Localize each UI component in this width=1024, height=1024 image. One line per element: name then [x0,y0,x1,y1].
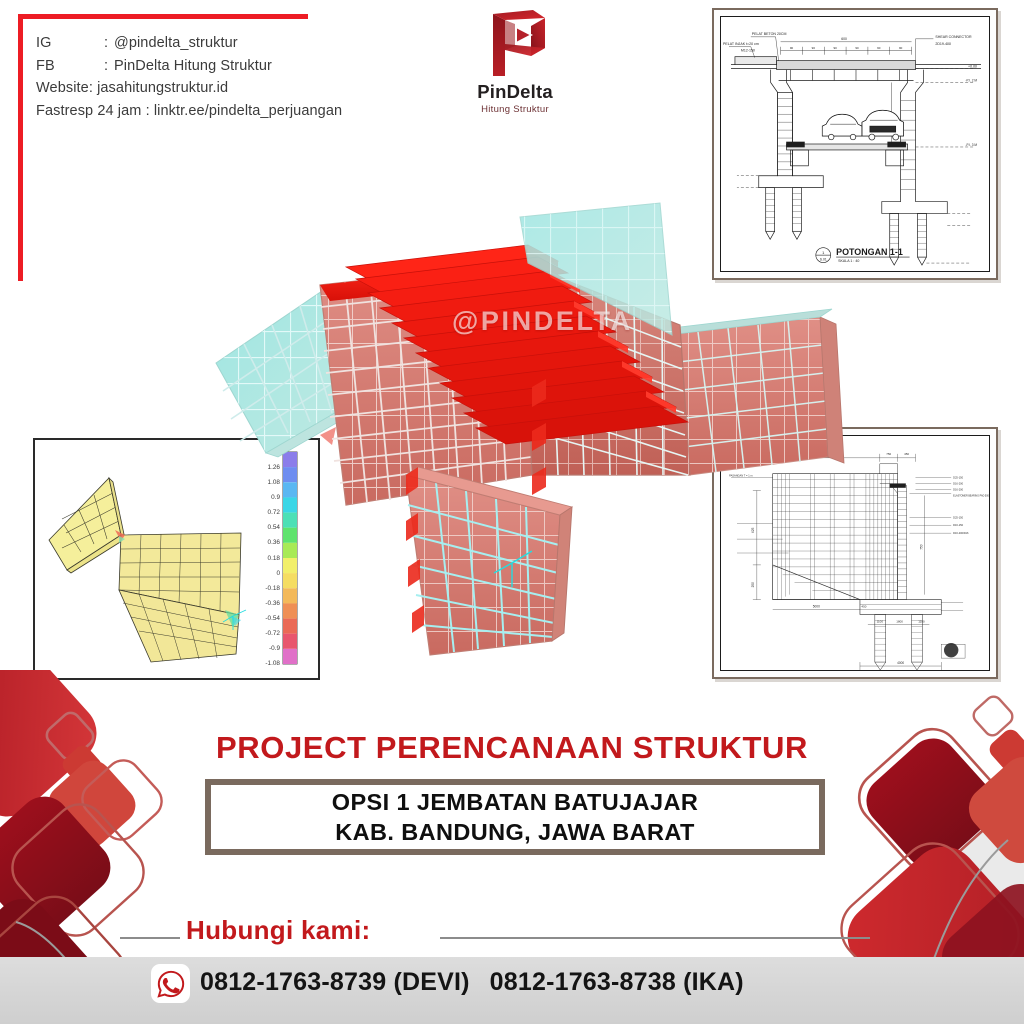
cad-label-pelat-beton: PELAT BETON 20CM [752,32,787,36]
contact-row-fb: FB : PinDelta Hitung Struktur [36,55,436,78]
rebar-note-2: D16-200 [953,482,963,486]
phone-number-2[interactable]: 0812-1763-8738 (IKA) [490,968,744,996]
right-wing-wall [668,309,844,475]
contact-key-fb: FB [36,55,104,78]
phone-numbers: 0812-1763-8739 (DEVI)0812-1763-8738 (IKA… [200,968,744,997]
cta-rule-left [120,937,180,939]
cad-elev-2: -P.I. 3 M [966,143,978,147]
cad-dim-top-4: 90 [855,46,859,50]
rebar-pile-total: 4000 [897,661,904,665]
bridge-3d-model-svg [160,175,880,675]
cad-label-pelat-injak: PELAT INJAK t=20 cm [723,42,759,46]
pindelta-p-delta-icon [471,6,559,80]
project-subtitle-box: OPSI 1 JEMBATAN BATUJAJAR KAB. BANDUNG, … [205,779,825,855]
rebar-note-7: D16-200/D16 [953,531,969,535]
whatsapp-glyph [156,969,186,999]
phone-number-1[interactable]: 0812-1763-8739 (DEVI) [200,968,470,996]
rebar-note-1: D25-150 [953,476,963,480]
cad-dim-top-3: 90 [834,46,838,50]
contact-row-ig: IG : @pindelta_struktur [36,32,436,55]
logo-wordmark: PinDelta [455,81,575,103]
rebar-note-4: ELASTOMER BEARING PAD 500x500x47 mm [953,494,989,497]
cta-label: Hubungi kami: [186,915,370,946]
cad-label-shear-connector: SHEAR CONNECTOR [935,35,972,39]
social-contact-block: IG : @pindelta_struktur FB : PinDelta Hi… [36,32,436,122]
cad-elev-1: -P.I. 2 M [966,78,978,82]
logo-tagline: Hitung Struktur [455,104,575,115]
project-subtitle-line2: KAB. BANDUNG, JAWA BARAT [335,817,694,847]
contact-value-fb: PinDelta Hitung Struktur [114,55,272,78]
cad-dim-top-6: 90 [899,46,903,50]
page-title: PROJECT PERENCANAAN STRUKTUR [0,730,1024,766]
rebar-dim-top-2: 750 [886,452,891,456]
cad-elev-0: +0.00 [968,65,977,69]
cta-rule-right [440,937,870,939]
contact-row-website: Website: jasahitungstruktur.id [36,77,436,100]
poster-canvas: IG : @pindelta_struktur FB : PinDelta Hi… [0,0,1024,1024]
pier-stem-wall [406,467,572,655]
rebar-dim-top-3: 450 [904,452,909,456]
cad-label-m12: M12-150 [741,49,755,53]
rebar-dim-right: 750 [919,544,923,550]
cta-row: Hubungi kami: [0,915,1024,963]
contact-row-fastresp: Fastresp 24 jam : linktr.ee/pindelta_per… [36,100,436,123]
whatsapp-icon[interactable] [151,964,190,1003]
cad-dim-top-2: 90 [812,46,816,50]
rebar-note-6: D16-150 [953,523,963,527]
bridge-3d-model[interactable] [160,175,880,675]
rebar-pile-dim-3: 1100 [918,619,925,623]
contact-sep-fb: : [104,55,114,78]
brand-logo: PinDelta Hitung Struktur [455,6,575,114]
rebar-pile-dim-2: 1800 [896,619,903,623]
cad-label-2d19: 2D19-400 [935,42,951,46]
contact-sep-ig: : [104,32,114,55]
cad-dim-top-1: 90 [790,46,794,50]
rebar-note-3: D16-200 [953,488,963,492]
cad-dim-span: 600 [841,37,847,41]
project-subtitle-line1: OPSI 1 JEMBATAN BATUJAJAR [332,787,698,817]
rebar-note-5: D25-150 [953,515,963,519]
cad-dim-top-5: 90 [877,46,881,50]
contact-value-ig: @pindelta_struktur [114,32,238,55]
contact-key-ig: IG [36,32,104,55]
